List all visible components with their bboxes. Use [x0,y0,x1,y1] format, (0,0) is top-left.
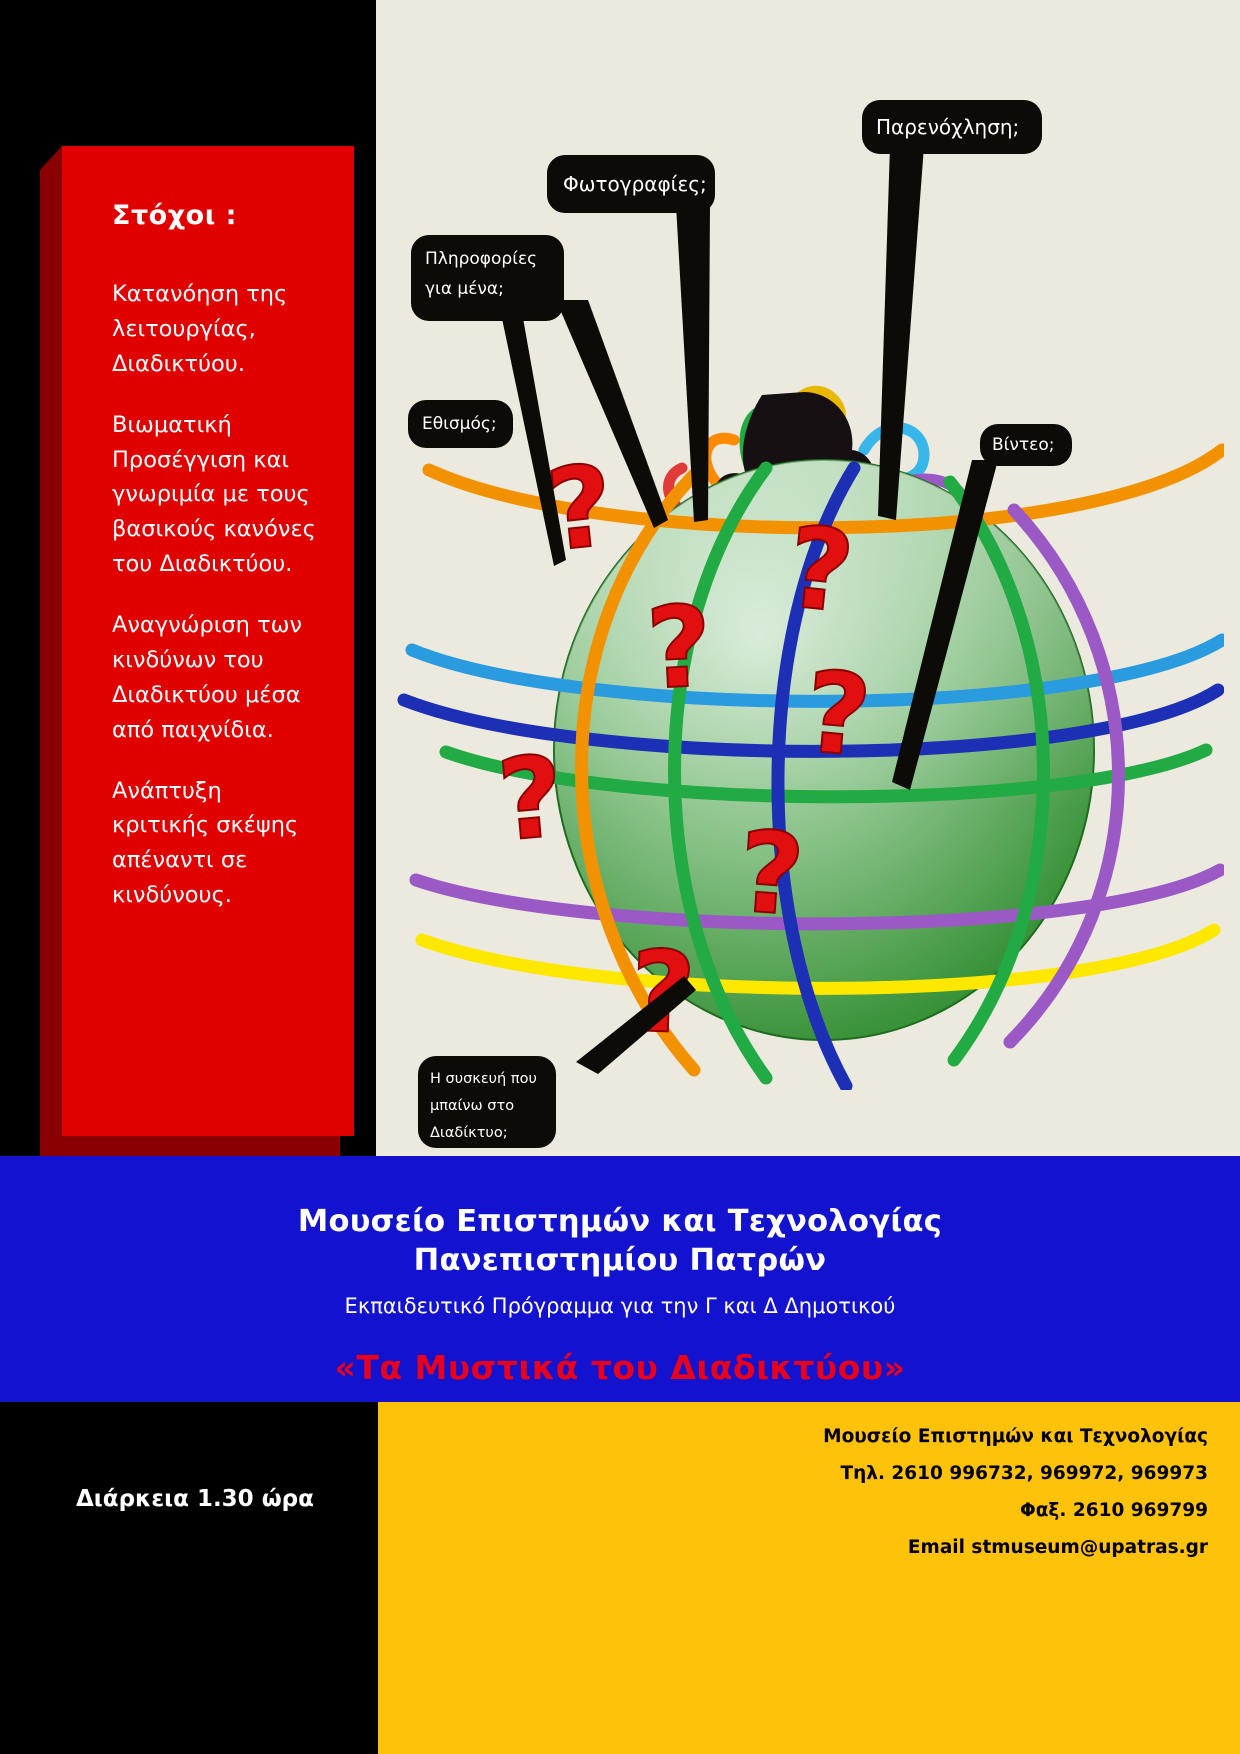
bubble-device[interactable]: Η συσκευή που μπαίνω στο Διαδίκτυο; [418,1056,556,1148]
bubble-information[interactable]: Πληροφορίες για μένα; [411,235,564,321]
organization-band: Μουσείο Επιστημών και Τεχνολογίας Πανεπι… [0,1156,1240,1402]
contact-fax: Φαξ. 2610 969799 [823,1492,1208,1529]
bubble-device-label: Η συσκευή που μπαίνω στο Διαδίκτυο; [430,1066,544,1146]
goal-item: Βιωματική Προσέγγιση και γνωριμία με του… [112,408,324,582]
goals-title: Στόχοι : [112,200,324,231]
bubble-information-label: Πληροφορίες για μένα; [425,245,550,305]
program-subtitle: Εκπαιδευτικό Πρόγραμμα για την Γ και Δ Δ… [0,1280,1240,1318]
contact-museum: Μουσείο Επιστημών και Τεχνολογίας [823,1418,1208,1455]
goals-panel: Στόχοι : Κατανόηση της λειτουργίας, Διαδ… [62,146,354,1136]
bubble-harassment[interactable]: Παρενόχληση; [862,100,1042,154]
bubble-photos-label: Φωτογραφίες; [563,172,699,196]
artwork-panel: ? ? ? ? ? ? ? Πληροφορίες για μένα; [376,0,1240,1156]
bubble-video-label: Βίντεο; [992,435,1060,455]
program-title: «Τα Μυστικά του Διαδικτύου» [0,1318,1240,1387]
contact-email[interactable]: Email stmuseum@upatras.gr [823,1529,1208,1566]
contact-phone: Τηλ. 2610 996732, 969972, 969973 [823,1455,1208,1492]
contact-panel: Μουσείο Επιστημών και Τεχνολογίας Τηλ. 2… [378,1402,1240,1754]
organization-name: Μουσείο Επιστημών και Τεχνολογίας Πανεπι… [0,1156,1240,1280]
contact-details: Μουσείο Επιστημών και Τεχνολογίας Τηλ. 2… [823,1418,1208,1566]
bubble-addiction-label: Εθισμός; [422,414,499,434]
goal-item: Ανάπτυξη κριτικής σκέψης απέναντι σε κιν… [112,774,324,914]
bubble-photos[interactable]: Φωτογραφίες; [547,155,715,213]
organization-name-line1: Μουσείο Επιστημών και Τεχνολογίας [0,1202,1240,1241]
poster-root: ? ? ? ? ? ? ? Πληροφορίες για μένα; [0,0,1240,1754]
bubble-pointer-lines [376,0,1240,1156]
bubble-video[interactable]: Βίντεο; [980,424,1072,466]
bubble-addiction[interactable]: Εθισμός; [408,400,513,448]
goal-item: Κατανόηση της λειτουργίας, Διαδικτύου. [112,277,324,382]
bubble-harassment-label: Παρενόχληση; [876,115,1028,139]
duration-panel: Διάρκεια 1.30 ώρα [0,1402,378,1754]
duration-label: Διάρκεια 1.30 ώρα [76,1486,314,1512]
organization-name-line2: Πανεπιστημίου Πατρών [0,1241,1240,1280]
goal-item: Αναγνώριση των κινδύνων του Διαδικτύου μ… [112,608,324,748]
